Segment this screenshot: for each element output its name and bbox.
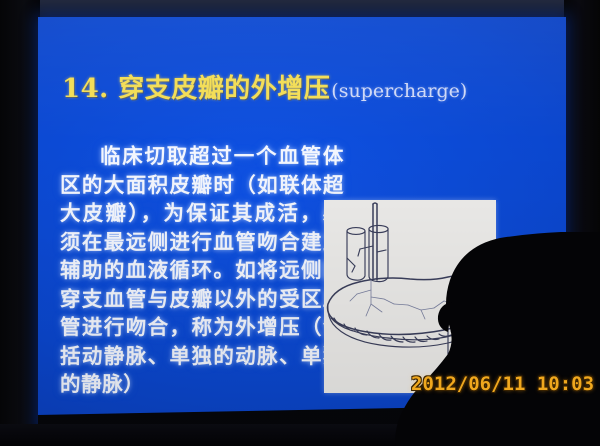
slide-illustration <box>324 200 496 393</box>
projection-screen: 14. 穿支皮瓣的外增压(supercharge) 临床切取超过一个血管体区的大… <box>38 17 566 431</box>
slide-title: 14. 穿支皮瓣的外增压(supercharge) <box>62 68 532 105</box>
camera-timestamp: 2012/06/11 10:03 <box>411 373 594 395</box>
slide-body-paragraph: 临床切取超过一个血管体区的大面积皮瓣时（如联体超大皮瓣），为保证其成活，必须在最… <box>60 142 344 399</box>
photo-of-projected-slide: 14. 穿支皮瓣的外增压(supercharge) 临床切取超过一个血管体区的大… <box>0 0 600 446</box>
flap-diagram-svg <box>324 200 496 393</box>
room-wall-bottom <box>0 424 600 446</box>
room-wall-left <box>0 0 40 446</box>
slide-title-english: (supercharge) <box>331 80 467 102</box>
slide-title-chinese: 14. 穿支皮瓣的外增压 <box>62 74 330 104</box>
